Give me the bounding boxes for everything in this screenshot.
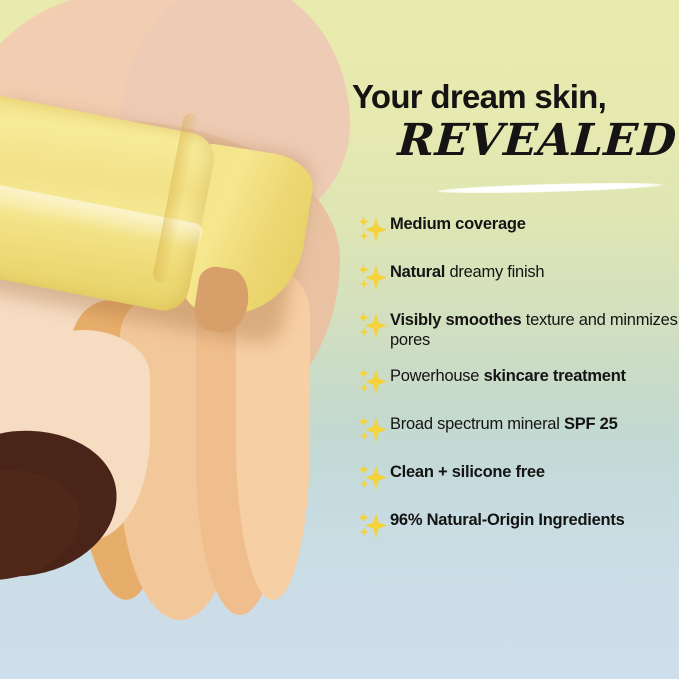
- benefit-text-segment: Powerhouse: [390, 367, 484, 385]
- headline-line-2: REVEALED: [396, 119, 679, 163]
- sparkle-icon: [356, 462, 390, 494]
- sparkle-icon: [356, 510, 390, 542]
- product-photo: [0, 0, 360, 679]
- promo-image: Your dream skin, REVEALED Medium coverag…: [0, 0, 679, 679]
- benefit-text-segment: Visibly smoothes: [390, 311, 526, 329]
- text-column: Your dream skin, REVEALED Medium coverag…: [352, 0, 679, 679]
- benefit-text: Broad spectrum mineral SPF 25: [390, 412, 618, 434]
- benefit-text: 96% Natural-Origin Ingredients: [390, 508, 625, 530]
- sparkle-icon: [356, 262, 390, 294]
- brush-underline: [438, 181, 662, 195]
- benefit-item: Broad spectrum mineral SPF 25: [356, 412, 679, 446]
- benefit-text: Medium coverage: [390, 212, 526, 234]
- benefit-item: Visibly smoothes texture and minmizes po…: [356, 308, 679, 350]
- benefit-text-segment: Clean + silicone free: [390, 463, 545, 481]
- headline: Your dream skin, REVEALED: [352, 80, 679, 163]
- benefit-text-segment: 96% Natural-Origin Ingredients: [390, 511, 625, 529]
- sparkle-icon: [356, 414, 390, 446]
- benefit-text-segment: Natural: [390, 263, 449, 281]
- benefit-text-segment: SPF 25: [564, 415, 618, 433]
- benefit-text-segment: Broad spectrum mineral: [390, 415, 564, 433]
- benefits-list: Medium coverageNatural dreamy finishVisi…: [356, 212, 679, 556]
- benefit-text: Powerhouse skincare treatment: [390, 364, 626, 386]
- benefit-text-segment: Medium coverage: [390, 215, 526, 233]
- benefit-item: Medium coverage: [356, 212, 679, 246]
- benefit-text-segment: skincare treatment: [484, 367, 626, 385]
- sparkle-icon: [356, 366, 390, 398]
- benefit-text: Visibly smoothes texture and minmizes po…: [390, 308, 679, 350]
- benefit-item: 96% Natural-Origin Ingredients: [356, 508, 679, 542]
- benefit-text: Natural dreamy finish: [390, 260, 544, 282]
- benefit-text: Clean + silicone free: [390, 460, 545, 482]
- benefit-item: Powerhouse skincare treatment: [356, 364, 679, 398]
- benefit-item: Natural dreamy finish: [356, 260, 679, 294]
- sparkle-icon: [356, 214, 390, 246]
- headline-line-1: Your dream skin,: [352, 80, 679, 115]
- benefit-text-segment: dreamy finish: [449, 263, 544, 281]
- benefit-item: Clean + silicone free: [356, 460, 679, 494]
- sparkle-icon: [356, 310, 390, 342]
